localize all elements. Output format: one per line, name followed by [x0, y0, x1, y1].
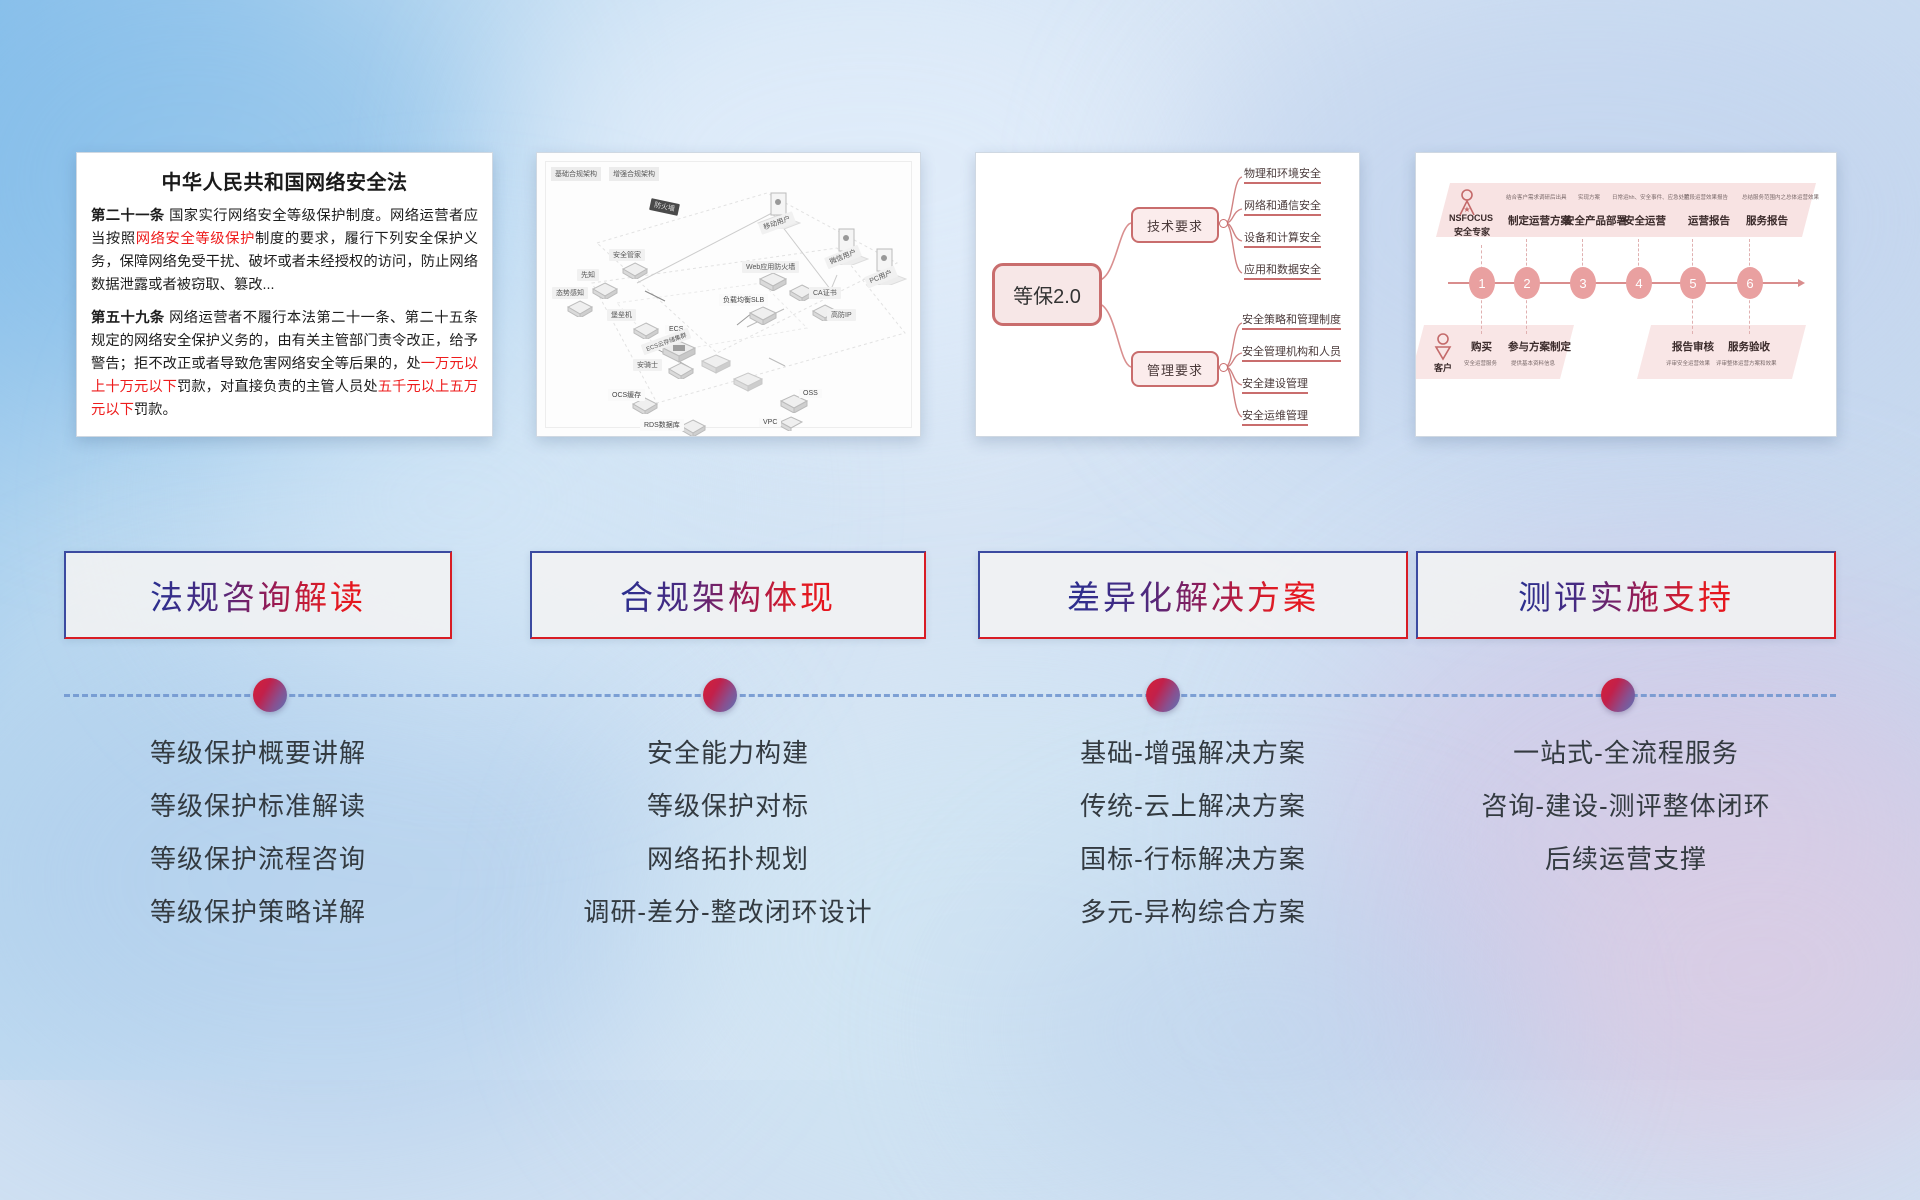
- arch-label-ocs: OCS缓存: [608, 389, 645, 401]
- bottom-step-3-sub: 评审安全运营效果: [1666, 359, 1710, 367]
- arch-node-situation: [567, 299, 593, 322]
- top-step-5-sub: 总结服务范围内之总体运营效果: [1742, 193, 1819, 201]
- law-text-card: 中华人民共和国网络安全法 第二十一条 国家实行网络安全等级保护制度。网络运营者应…: [76, 152, 493, 437]
- architecture-diagram-card: 基础合规架构 增强合规架构 态势感知: [536, 152, 921, 437]
- track-dot-2: [703, 678, 737, 712]
- timeline-node-6[interactable]: 6: [1737, 267, 1763, 299]
- top-step-3-title: 安全运营: [1624, 213, 1666, 228]
- headline-box-3[interactable]: 差异化解决方案: [978, 551, 1408, 639]
- column-list-3: 基础-增强解决方案 传统-云上解决方案 国标-行标解决方案 多元-异构综合方案: [978, 740, 1408, 952]
- track-dot-4: [1601, 678, 1635, 712]
- column-list-1: 等级保护概要讲解 等级保护标准解读 等级保护流程咨询 等级保护策略详解: [64, 740, 452, 952]
- list-item: 后续运营支撑: [1416, 846, 1836, 872]
- list-item: 安全能力构建: [530, 740, 926, 766]
- timeline-node-5[interactable]: 5: [1680, 267, 1706, 299]
- arch-node-storage-1: [701, 353, 731, 380]
- track-dot-3: [1146, 678, 1180, 712]
- bottom-step-2-title: 参与方案制定: [1508, 339, 1571, 354]
- top-step-5-title: 服务报告: [1746, 213, 1788, 228]
- mindmap-collapse-icon-technical[interactable]: [1219, 219, 1228, 228]
- article-21-label: 第二十一条: [91, 208, 165, 224]
- arch-node-waf: [759, 271, 787, 296]
- law-article-21: 第二十一条 国家实行网络安全等级保护制度。网络运营者应当按照网络安全等级保护制度…: [91, 205, 478, 298]
- mindmap-card: 等保2.0 技术要求 物理和环境安全 网络和通信安全 设备和计算安全 应用和数据…: [975, 152, 1360, 437]
- mindmap-leaf-mgmt-2: 安全管理机构和人员: [1242, 343, 1341, 362]
- top-step-3-sub: 日常运hh、安全事件、应急处置: [1612, 193, 1690, 201]
- arch-node-anqishi: [668, 361, 694, 384]
- top-step-4-title: 运营报告: [1688, 213, 1730, 228]
- arch-label-security-butler: 安全管家: [609, 249, 645, 261]
- article-21-highlight: 网络安全等级保护: [136, 231, 255, 247]
- arch-label-oss: OSS: [799, 389, 822, 398]
- column-list-2: 安全能力构建 等级保护对标 网络拓扑规划 调研-差分-整改闭环设计: [530, 740, 926, 952]
- mindmap-leaf-tech-1: 物理和环境安全: [1244, 165, 1321, 184]
- list-item: 网络拓扑规划: [530, 846, 926, 872]
- nsfocus-timeline-card: ★ NSFOCUS 安全专家 客户 结合客户需求调研后出具 制定运营方案 实现方…: [1415, 152, 1837, 437]
- list-item: 等级保护流程咨询: [64, 846, 452, 872]
- mindmap-leaf-mgmt-4: 安全运维管理: [1242, 407, 1308, 426]
- list-item: 国标-行标解决方案: [978, 846, 1408, 872]
- timeline-track: [64, 694, 1836, 697]
- mindmap-branch-technical: 技术要求: [1131, 207, 1219, 243]
- article-59-label: 第五十九条: [91, 310, 165, 326]
- timeline-node-1[interactable]: 1: [1469, 267, 1495, 299]
- timeline-node-3[interactable]: 3: [1570, 267, 1596, 299]
- timeline-arrow-icon: [1798, 279, 1805, 287]
- arch-node-rds: [680, 418, 706, 437]
- list-item: 多元-异构综合方案: [978, 899, 1408, 925]
- arch-node-xianzhi: [592, 281, 618, 304]
- arch-label-situation: 态势感知: [552, 287, 588, 299]
- mindmap-root: 等保2.0: [992, 263, 1102, 326]
- customer-person-icon: [1432, 333, 1454, 363]
- arch-label-gaofang: 高防IP: [827, 309, 856, 321]
- arch-label-bastion: 堡垒机: [607, 309, 636, 321]
- list-item: 等级保护标准解读: [64, 793, 452, 819]
- list-item: 基础-增强解决方案: [978, 740, 1408, 766]
- arch-node-slb: [749, 305, 777, 330]
- headline-label-3: 差异化解决方案: [1067, 571, 1319, 619]
- arch-label-rds: RDS数据库: [640, 419, 684, 431]
- list-item: 等级保护对标: [530, 793, 926, 819]
- arch-node-storage-2: [733, 371, 763, 398]
- headline-label-2: 合规架构体现: [620, 571, 836, 619]
- list-item: 调研-差分-整改闭环设计: [530, 899, 926, 925]
- list-item: 一站式-全流程服务: [1416, 740, 1836, 766]
- article-59-text-b: 罚款，对直接负责的主管人员处: [177, 379, 378, 395]
- column-list-4: 一站式-全流程服务 咨询-建设-测评整体闭环 后续运营支撑: [1416, 740, 1836, 899]
- mindmap-leaf-tech-3: 设备和计算安全: [1244, 229, 1321, 248]
- bottom-step-4-title: 服务验收: [1728, 339, 1770, 354]
- bottom-step-1-title: 购买: [1471, 339, 1492, 354]
- expert-label-line2: 安全专家: [1454, 225, 1490, 238]
- law-card-title: 中华人民共和国网络安全法: [77, 166, 492, 195]
- mindmap-branch-management: 管理要求: [1131, 351, 1219, 387]
- arch-label-anqishi: 安骑士: [633, 359, 662, 371]
- arch-label-ca: CA证书: [809, 287, 841, 299]
- top-step-4-sub: 阶段运营效果报告: [1684, 193, 1728, 201]
- mindmap-leaf-mgmt-3: 安全建设管理: [1242, 375, 1308, 394]
- article-59-text-c: 罚款。: [134, 402, 177, 418]
- law-article-59: 第五十九条 网络运营者不履行本法第二十一条、第二十五条规定的网络安全保护义务的，…: [91, 307, 478, 423]
- arch-label-xianzhi: 先知: [577, 269, 599, 281]
- top-step-1-sub: 结合客户需求调研后出具: [1506, 193, 1567, 201]
- headline-label-1: 法规咨询解读: [150, 571, 366, 619]
- mindmap-leaf-mgmt-1: 安全策略和管理制度: [1242, 311, 1341, 330]
- mindmap-collapse-icon-management[interactable]: [1219, 363, 1228, 372]
- track-dot-1: [253, 678, 287, 712]
- customer-label: 客户: [1434, 361, 1452, 374]
- expert-label-line1: NSFOCUS: [1449, 213, 1493, 223]
- bottom-step-3-title: 报告审核: [1672, 339, 1714, 354]
- list-item: 传统-云上解决方案: [978, 793, 1408, 819]
- arch-label-waf: Web应用防火墙: [742, 261, 799, 273]
- mindmap-leaf-tech-4: 应用和数据安全: [1244, 261, 1321, 280]
- top-step-1-title: 制定运营方案: [1508, 213, 1571, 228]
- headline-label-4: 测评实施支持: [1518, 571, 1734, 619]
- mindmap-leaf-tech-2: 网络和通信安全: [1244, 197, 1321, 216]
- bottom-step-2-sub: 提供基本资料信息: [1511, 359, 1555, 367]
- top-step-2-title: 安全产品部署: [1564, 213, 1627, 228]
- arch-label-vpc: VPC: [759, 418, 781, 427]
- arch-node-security-butler: [622, 261, 648, 284]
- timeline-node-4[interactable]: 4: [1626, 267, 1652, 299]
- headline-box-4[interactable]: 测评实施支持: [1416, 551, 1836, 639]
- arch-node-vpc: [779, 415, 803, 436]
- list-item: 咨询-建设-测评整体闭环: [1416, 793, 1836, 819]
- timeline-node-2[interactable]: 2: [1514, 267, 1540, 299]
- bottom-step-4-sub: 评审整体运营方案和效果: [1716, 359, 1777, 367]
- list-item: 等级保护概要讲解: [64, 740, 452, 766]
- headline-box-2[interactable]: 合规架构体现: [530, 551, 926, 639]
- bottom-step-1-sub: 安全运营服务: [1464, 359, 1497, 367]
- top-step-2-sub: 实现方案: [1578, 193, 1600, 201]
- headline-box-1[interactable]: 法规咨询解读: [64, 551, 452, 639]
- list-item: 等级保护策略详解: [64, 899, 452, 925]
